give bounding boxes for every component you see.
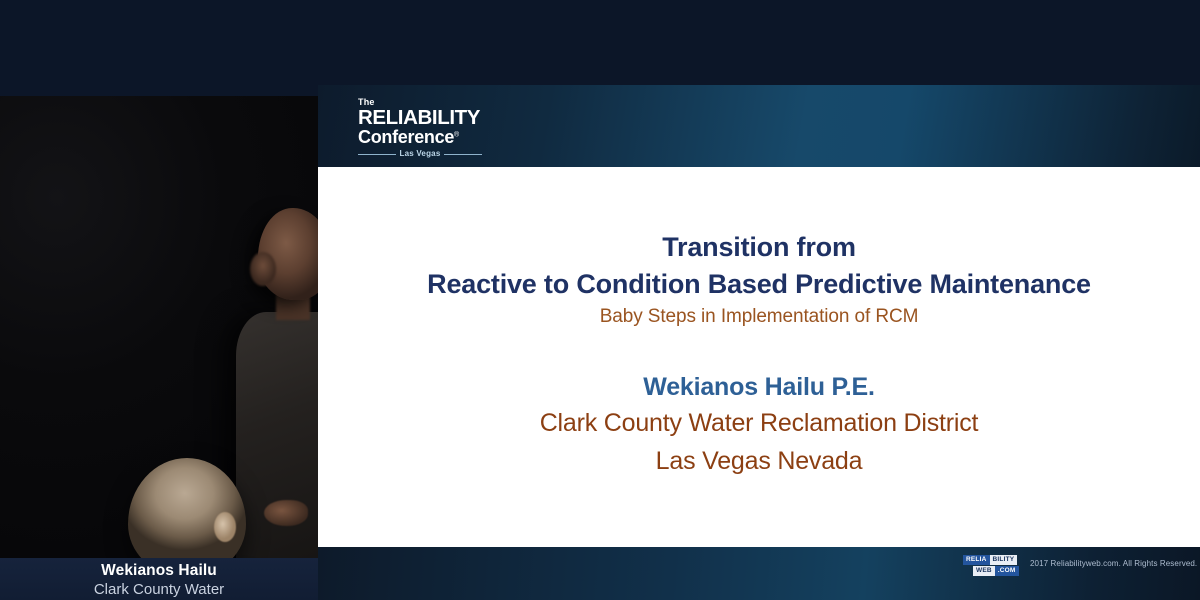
audience-member-figure bbox=[92, 458, 306, 558]
logo-reliability-text: RELIABILITY bbox=[358, 108, 482, 128]
badge-spacer bbox=[963, 566, 973, 576]
caption-speaker-org: Clark County Water bbox=[0, 580, 318, 599]
presenter-name: Wekianos Hailu P.E. bbox=[318, 370, 1200, 404]
badge-row-top: RELIA BILITY bbox=[963, 555, 1026, 565]
video-player-surface: Wekianos Hailu Clark County Water The RE… bbox=[0, 0, 1200, 600]
caption-speaker-name: Wekianos Hailu bbox=[0, 562, 318, 580]
slide-title-line-1: Transition from bbox=[318, 229, 1200, 266]
reliability-conference-logo: The RELIABILITY Conference® Las Vegas bbox=[358, 98, 482, 158]
speaker-caption-band: Wekianos Hailu Clark County Water bbox=[0, 558, 318, 600]
slide-subtitle: Baby Steps in Implementation of RCM bbox=[318, 306, 1200, 328]
reliabilityweb-logo: RELIA BILITY WEB .COM bbox=[963, 555, 1026, 577]
presenter-location: Las Vegas Nevada bbox=[318, 442, 1200, 480]
audience-head bbox=[128, 458, 246, 558]
badge-web-text: WEB bbox=[973, 566, 995, 576]
presenter-block: Wekianos Hailu P.E. Clark County Water R… bbox=[318, 370, 1200, 480]
logo-rule-right bbox=[444, 154, 482, 155]
audience-ear bbox=[214, 512, 236, 542]
presenter-organization: Clark County Water Reclamation District bbox=[318, 404, 1200, 442]
slide-content-area: Transition from Reactive to Condition Ba… bbox=[318, 167, 1200, 547]
slide-footer-band: RELIA BILITY WEB .COM 2017 Reliabilitywe… bbox=[318, 547, 1200, 600]
registered-trademark-icon: ® bbox=[454, 132, 459, 139]
slide-banner: The RELIABILITY Conference® Las Vegas bbox=[318, 85, 1200, 167]
logo-location-text: Las Vegas bbox=[400, 150, 441, 158]
logo-location-row: Las Vegas bbox=[358, 150, 482, 158]
slide-title-block: Transition from Reactive to Condition Ba… bbox=[318, 229, 1200, 328]
badge-relia-text: RELIA bbox=[963, 555, 990, 565]
speaker-head bbox=[258, 208, 318, 300]
conference-video-feed[interactable] bbox=[0, 96, 318, 558]
badge-com-text: .COM bbox=[995, 566, 1019, 576]
badge-bility-text: BILITY bbox=[990, 555, 1018, 565]
logo-rule-left bbox=[358, 154, 396, 155]
presentation-slide[interactable]: The RELIABILITY Conference® Las Vegas Tr… bbox=[318, 85, 1200, 600]
slide-title-line-2: Reactive to Condition Based Predictive M… bbox=[318, 266, 1200, 303]
logo-conference-text: Conference bbox=[358, 128, 454, 147]
badge-row-bottom: WEB .COM bbox=[963, 566, 1026, 576]
copyright-notice: 2017 Reliabilityweb.com. All Rights Rese… bbox=[1030, 559, 1197, 568]
